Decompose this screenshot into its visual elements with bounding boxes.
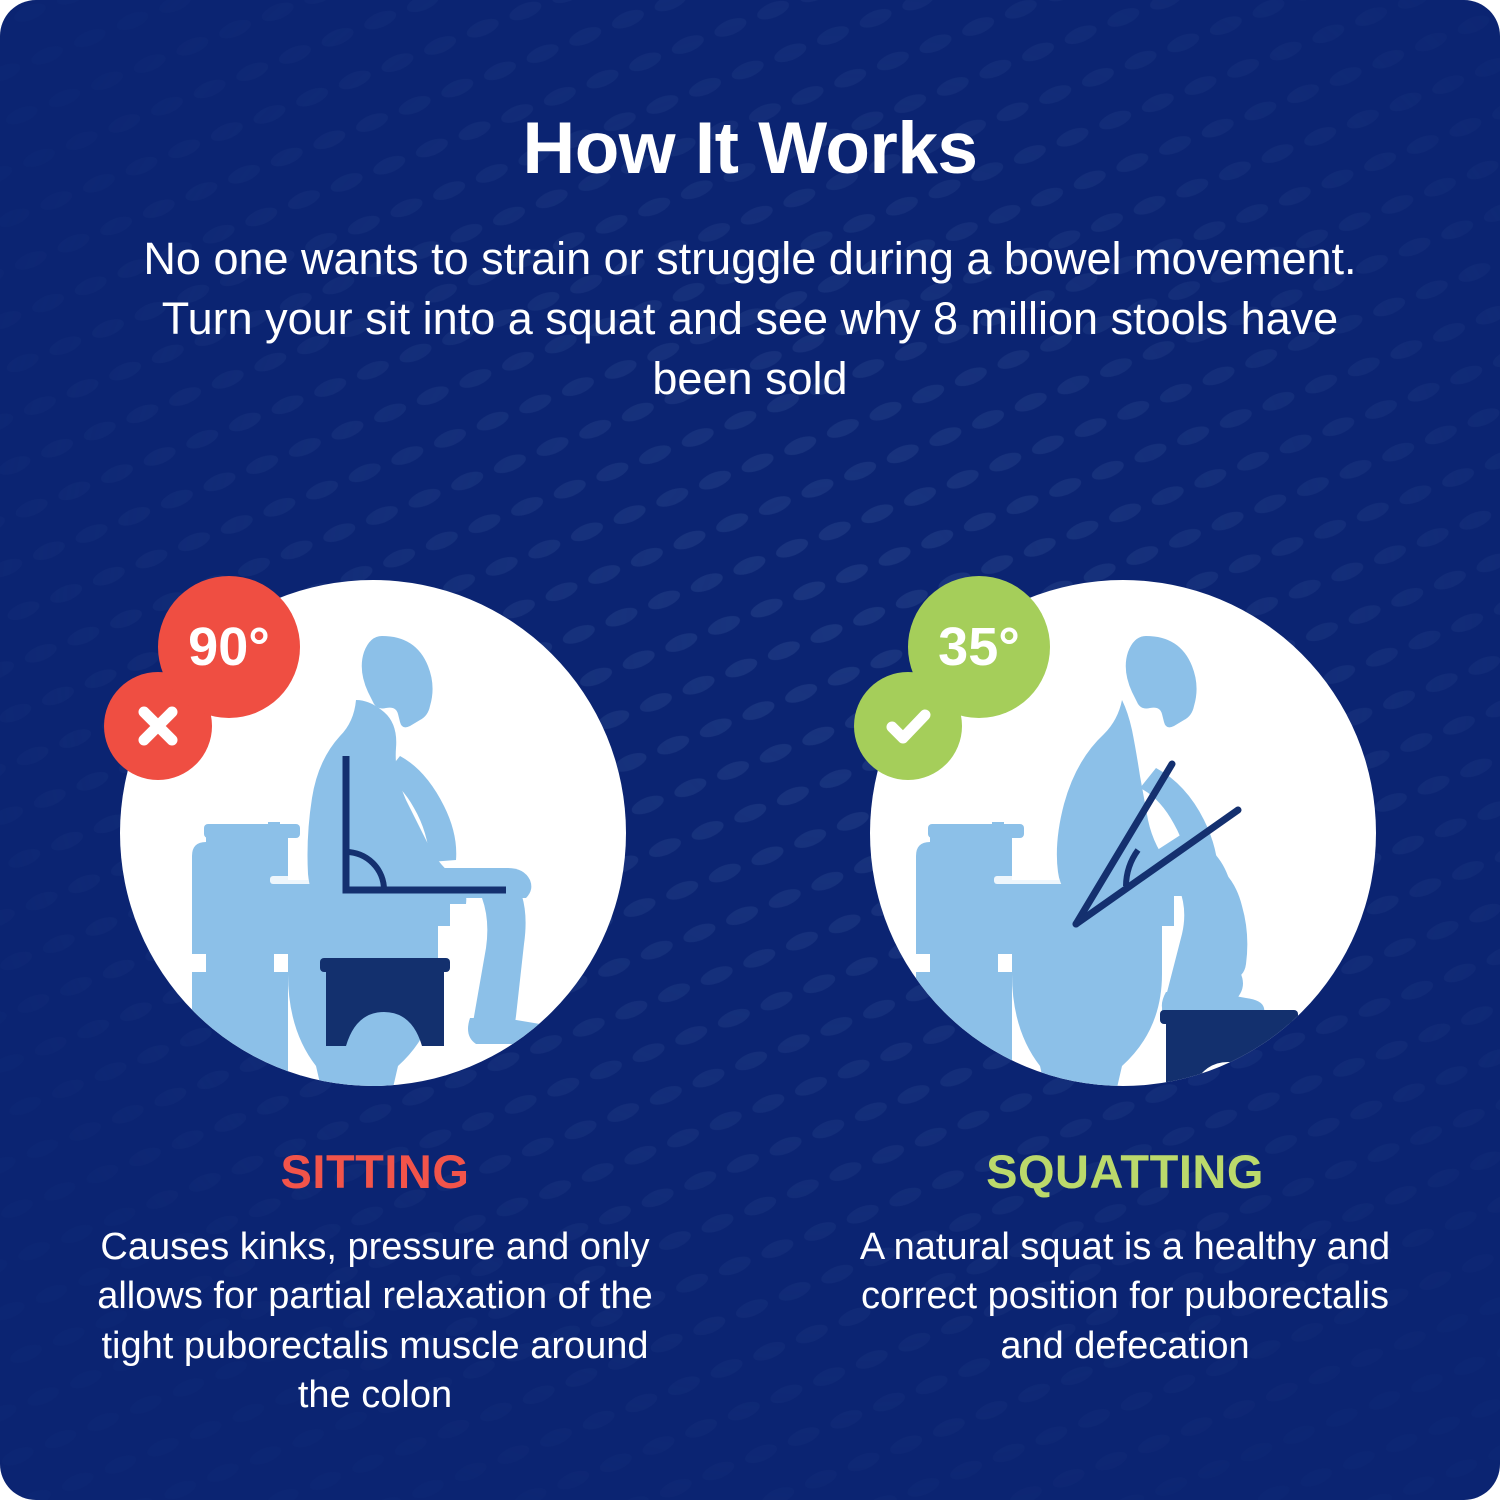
- angle-badge-label: 35°: [938, 616, 1020, 678]
- illustration-squatting: 35°: [870, 560, 1380, 1070]
- caption-body-squatting: A natural squat is a healthy and correct…: [845, 1195, 1405, 1371]
- column-sitting: 90° SITTING Causes kinks, pressure and o…: [0, 560, 750, 1421]
- angle-badge-squatting: 35°: [908, 576, 1050, 718]
- angle-badge-label: 90°: [188, 616, 270, 678]
- caption-heading-squatting: SQUATTING: [986, 1070, 1264, 1195]
- angle-badge-sitting: 90°: [158, 576, 300, 718]
- header: How It Works No one wants to strain or s…: [0, 0, 1500, 409]
- caption-body-sitting: Causes kinks, pressure and only allows f…: [80, 1195, 670, 1421]
- infographic-card: How It Works No one wants to strain or s…: [0, 0, 1500, 1500]
- illustration-sitting: 90°: [120, 560, 630, 1070]
- comparison-columns: 90° SITTING Causes kinks, pressure and o…: [0, 560, 1500, 1421]
- page-title: How It Works: [0, 0, 1500, 185]
- column-squatting: 35° SQUATTING A natural squat is a healt…: [750, 560, 1500, 1421]
- page-subtitle: No one wants to strain or struggle durin…: [135, 185, 1365, 409]
- caption-heading-sitting: SITTING: [281, 1070, 470, 1195]
